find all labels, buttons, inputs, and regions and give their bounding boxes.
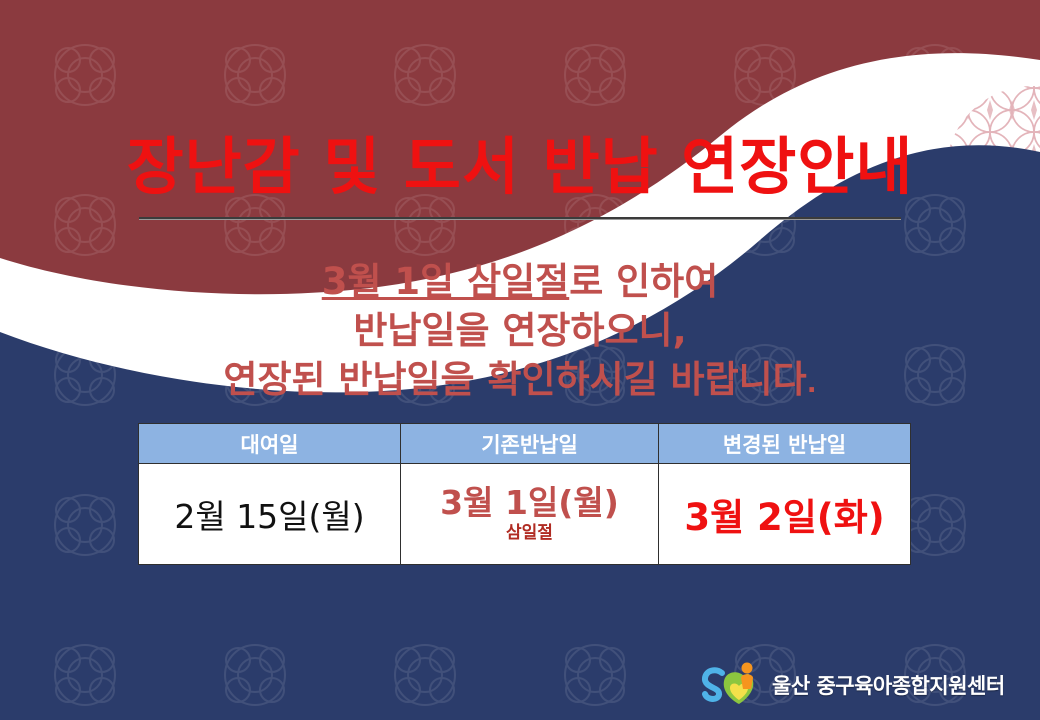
old-return-date-note: 삼일절 [401,524,658,544]
sc-heart-logo-icon [700,662,762,708]
column-header-old-return-date: 기존반납일 [401,424,659,464]
page-title: 장난감 및 도서 반납 연장안내 [0,134,1040,201]
title-divider [139,217,901,220]
message-line-1-rest: 로 인하여 [569,260,718,303]
old-return-date-value: 3월 1일(월) [440,483,619,522]
table-header-row: 대여일 기존반납일 변경된 반납일 [139,424,911,464]
poster-canvas: 장난감 및 도서 반납 연장안내 3월 1일 삼일절로 인하여 반납일을 연장하… [0,0,1040,720]
cell-rental-date: 2월 15일(월) [139,464,401,565]
cell-new-return-date: 3월 2일(화) [659,464,911,565]
message-line-1: 3월 1일 삼일절로 인하여 [0,258,1040,307]
message-line-3-period: . [807,369,817,399]
column-header-new-return-date: 변경된 반납일 [659,424,911,464]
column-header-rental-date: 대여일 [139,424,401,464]
organization-name: 울산 중구육아종합지원센터 [772,670,1005,700]
message-line-3-text: 연장된 반납일을 확인하시길 바랍니다 [223,358,806,401]
return-schedule-table: 대여일 기존반납일 변경된 반납일 2월 15일(월) 3월 1일(월) 삼일절… [138,423,911,565]
notice-message: 3월 1일 삼일절로 인하여 반납일을 연장하오니, 연장된 반납일을 확인하시… [0,258,1040,404]
message-line-3: 연장된 반납일을 확인하시길 바랍니다. [0,356,1040,405]
footer-branding: 울산 중구육아종합지원센터 [700,662,1005,708]
message-line-2: 반납일을 연장하오니, [0,307,1040,356]
table-row: 2월 15일(월) 3월 1일(월) 삼일절 3월 2일(화) [139,464,911,565]
title-block: 장난감 및 도서 반납 연장안내 [0,134,1040,220]
message-highlight-holiday: 3월 1일 삼일절 [322,260,569,303]
cell-old-return-date: 3월 1일(월) 삼일절 [401,464,659,565]
left-lattice-motif [0,380,150,640]
